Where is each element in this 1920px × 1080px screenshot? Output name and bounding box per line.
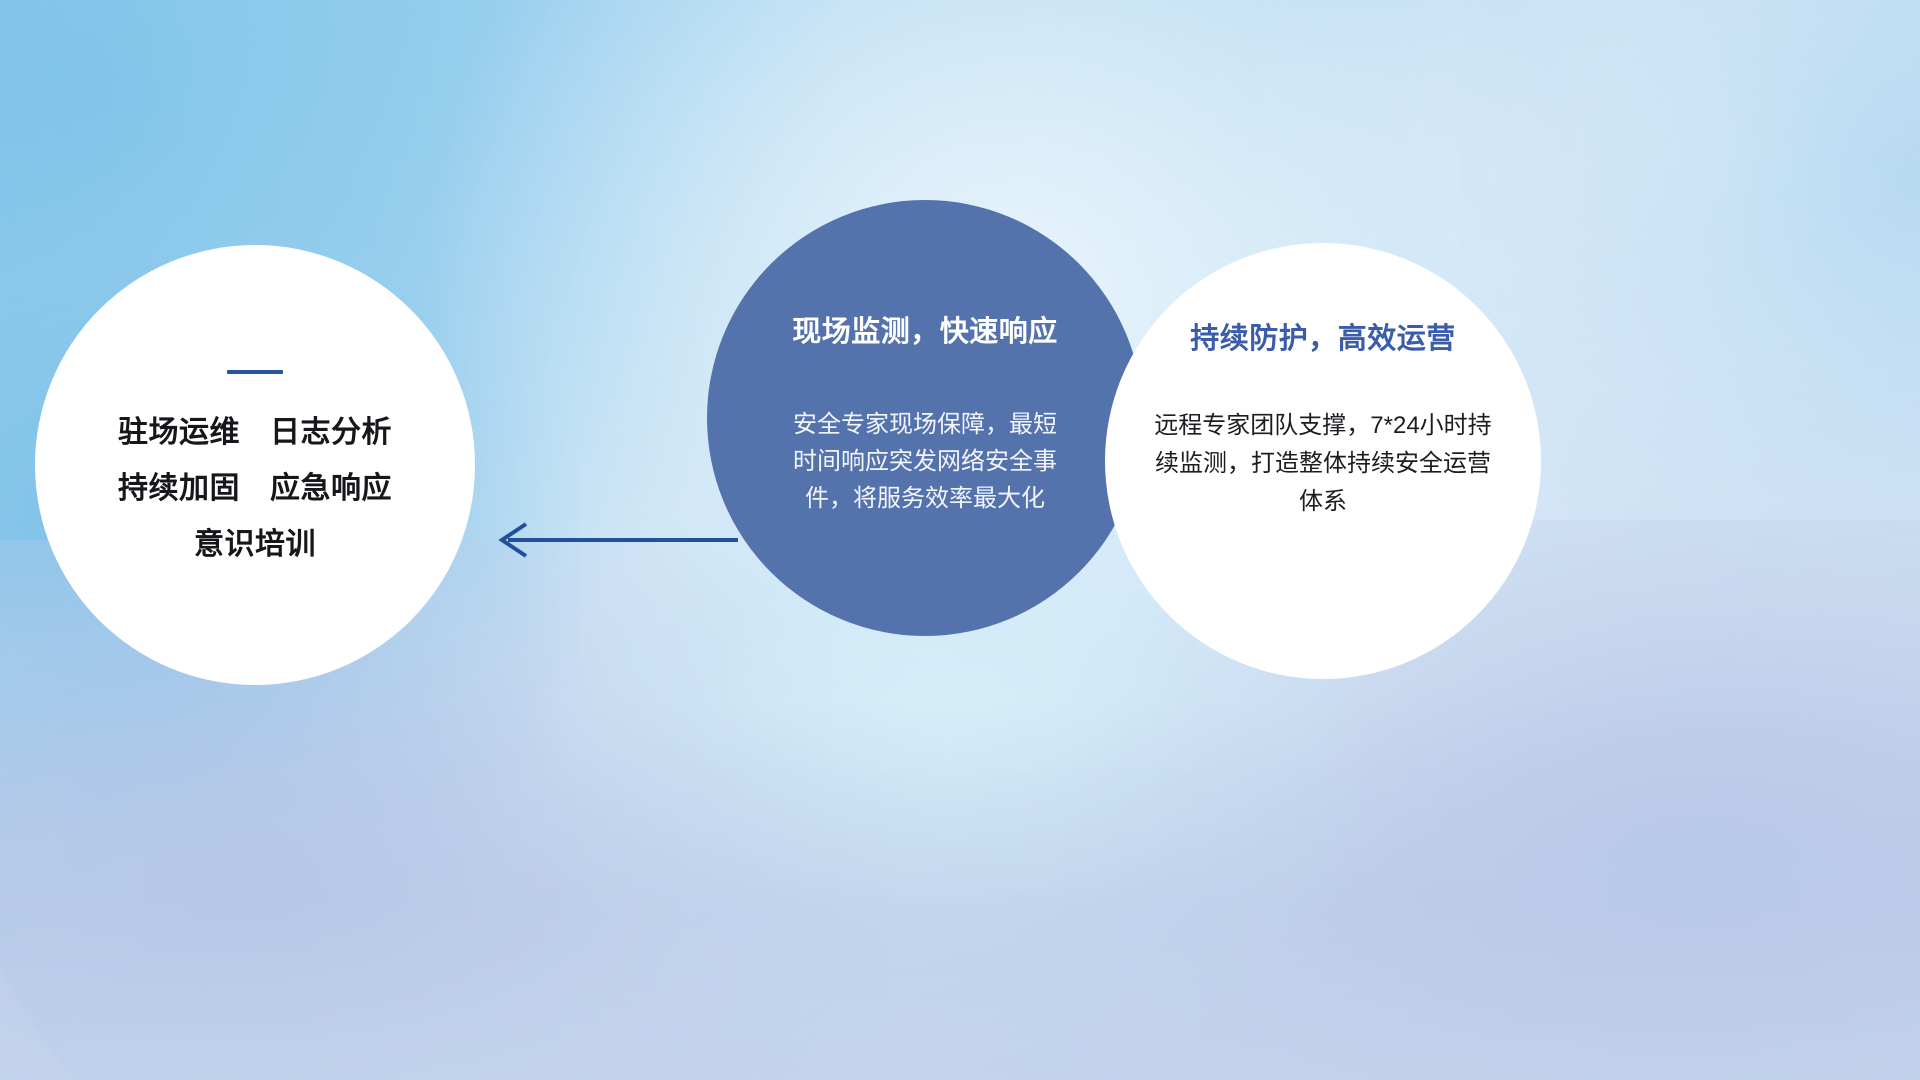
service-row: 意识培训: [118, 530, 392, 560]
title-divider: [227, 370, 283, 374]
current-monitoring-circle[interactable]: 现场监测，快速响应 安全专家现场保障，最短时间响应突发网络安全事件，将服务效率最…: [707, 200, 1143, 636]
service-item: 意识培训: [194, 530, 316, 560]
circle-title: 现场监测，快速响应: [715, 308, 1135, 350]
circle-title: 持续防护，高效运营: [1113, 315, 1533, 357]
service-item: 持续加固: [118, 474, 240, 504]
background-bottom-fade: [0, 700, 1920, 1080]
service-item: 驻场运维: [118, 418, 240, 448]
connector-arrow: [480, 500, 740, 580]
onsite-services-circle[interactable]: 驻场运维 日志分析 持续加固 应急响应 意识培训: [35, 245, 475, 685]
circle-body: 远程专家团队支撑，7*24小时持续监测，打造整体持续安全运营体系: [1147, 407, 1499, 521]
circle-content: 驻场运维 日志分析 持续加固 应急响应 意识培训: [118, 370, 392, 560]
service-row: 持续加固 应急响应: [118, 474, 392, 504]
circle-body: 安全专家现场保障，最短时间响应突发网络安全事件，将服务效率最大化: [789, 406, 1061, 518]
diagram-canvas: 驻场运维 日志分析 持续加固 应急响应 意识培训 现场监测，快速响应 安全专家现…: [0, 0, 1920, 1080]
service-item: 应急响应: [270, 474, 392, 504]
arrow-left-icon: [480, 500, 740, 580]
service-item: 日志分析: [270, 418, 392, 448]
continuous-operations-circle[interactable]: 持续防护，高效运营 远程专家团队支撑，7*24小时持续监测，打造整体持续安全运营…: [1105, 243, 1541, 679]
service-row: 驻场运维 日志分析: [118, 418, 392, 448]
service-list: 驻场运维 日志分析 持续加固 应急响应 意识培训: [118, 418, 392, 560]
